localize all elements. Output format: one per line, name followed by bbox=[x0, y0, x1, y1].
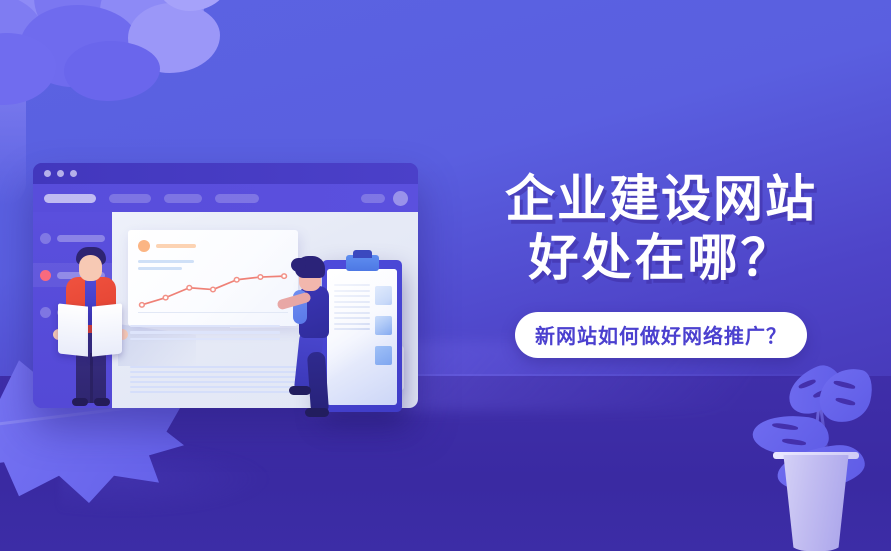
text-block: 企业建设网站 好处在哪？ 新网站如何做好网络推广？ bbox=[466, 170, 856, 358]
person-right-shoe bbox=[289, 386, 311, 395]
line-chart-svg bbox=[134, 258, 292, 314]
clipboard-checkbox[interactable] bbox=[375, 316, 392, 335]
subtitle-pill[interactable]: 新网站如何做好网络推广？ bbox=[515, 312, 807, 358]
window-controls[interactable] bbox=[44, 170, 77, 177]
person-left-head bbox=[79, 255, 102, 281]
open-book-left-page bbox=[58, 303, 88, 356]
clipboard-checkbox[interactable] bbox=[375, 286, 392, 305]
tree-foliage-top-left bbox=[0, 0, 260, 185]
minimize-dot-icon[interactable] bbox=[57, 170, 64, 177]
person-with-phone bbox=[281, 256, 355, 420]
headline-line-2: 好处在哪？ bbox=[466, 229, 856, 288]
nav-account-pill[interactable] bbox=[361, 194, 385, 203]
banner-root: 企业建设网站 好处在哪？ 新网站如何做好网络推广？ bbox=[0, 0, 891, 551]
chart-marker bbox=[163, 295, 168, 299]
chart-marker bbox=[234, 278, 239, 282]
browser-navbar bbox=[33, 184, 418, 212]
person-left-shoe bbox=[94, 398, 110, 406]
analytics-chart-card[interactable] bbox=[128, 230, 298, 326]
browser-titlebar bbox=[33, 163, 418, 184]
open-book-right-page bbox=[92, 303, 122, 356]
clipboard-clip-top bbox=[353, 250, 372, 258]
chart-marker bbox=[140, 303, 145, 307]
headline: 企业建设网站 好处在哪？ bbox=[466, 170, 856, 288]
line-chart bbox=[134, 258, 292, 314]
plant-pot bbox=[779, 455, 853, 551]
chart-card-header bbox=[138, 240, 196, 252]
maximize-dot-icon[interactable] bbox=[70, 170, 77, 177]
circle-icon bbox=[40, 307, 51, 318]
sidebar-item-label bbox=[57, 235, 105, 242]
nav-item-2[interactable] bbox=[109, 194, 151, 203]
orange-avatar-icon bbox=[138, 240, 150, 252]
nav-item-3[interactable] bbox=[164, 194, 202, 203]
avatar[interactable] bbox=[393, 191, 408, 206]
potted-monstera-bottom-right bbox=[731, 371, 881, 551]
headline-line-1: 企业建设网站 bbox=[466, 170, 856, 229]
chart-marker bbox=[258, 275, 263, 279]
person-right-leg-back bbox=[307, 351, 329, 414]
person-left-leg-split bbox=[90, 353, 93, 403]
chart-card-title-placeholder bbox=[156, 244, 196, 248]
clipboard-checkbox[interactable] bbox=[375, 346, 392, 365]
person-reading-book bbox=[52, 243, 130, 408]
person-right-hair-bun bbox=[291, 258, 306, 272]
chart-marker bbox=[211, 287, 216, 291]
chart-marker bbox=[187, 286, 192, 290]
person-left-shoe bbox=[72, 398, 88, 406]
navbar-right-group bbox=[361, 191, 408, 206]
document-text-block-upper bbox=[130, 325, 280, 345]
nav-item-4[interactable] bbox=[215, 194, 259, 203]
circle-icon bbox=[40, 233, 51, 244]
chart-axis-line bbox=[138, 312, 288, 313]
person-right-shoe bbox=[305, 408, 329, 417]
foliage-blob bbox=[64, 41, 160, 101]
circle-icon-pink bbox=[40, 270, 51, 281]
close-dot-icon[interactable] bbox=[44, 170, 51, 177]
nav-item-active[interactable] bbox=[44, 194, 96, 203]
